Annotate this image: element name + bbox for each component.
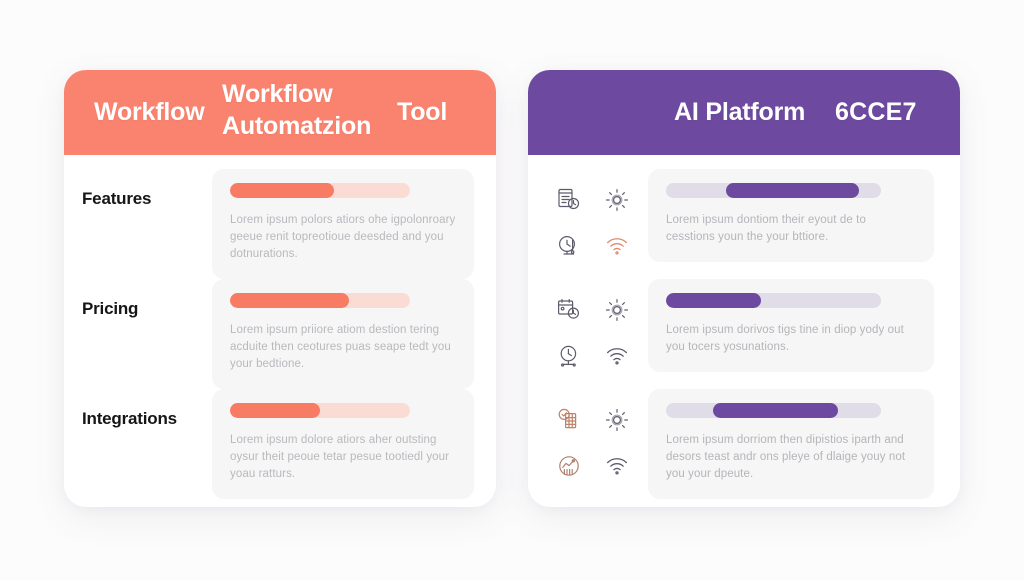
progress-bar-row-2 [666, 293, 881, 308]
clock-gauge-icon[interactable] [550, 227, 588, 265]
page-canvas: Workflow Workflow Automatzion Tool Featu… [0, 0, 1024, 580]
card-workflow-automation-tool[interactable]: Workflow Workflow Automatzion Tool Featu… [64, 70, 496, 507]
platform-row[interactable]: Lorem ipsum dontiom their eyout de to ce… [528, 169, 960, 267]
row-panel: Lorem ipsum priiore atiom destion tering… [212, 279, 474, 389]
row-label-integrations: Integrations [64, 389, 212, 429]
row-panel: Lorem ipsum dorivos tigs tine in diop yo… [648, 279, 934, 372]
platform-row[interactable]: Lorem ipsum dorriom then dipistios ipart… [528, 389, 960, 499]
row-description: Lorem ipsum priiore atiom destion tering… [230, 322, 456, 373]
card-title-code: 6CCE7 [835, 98, 917, 127]
row-panel: Lorem ipsum dolore atiors aher outsting … [212, 389, 474, 499]
card-body-right: Lorem ipsum dontiom their eyout de to ce… [528, 155, 960, 507]
card-title-suffix: Tool [397, 98, 447, 127]
wifi-icon[interactable] [598, 227, 636, 265]
progress-bar-row-1 [666, 183, 881, 198]
feature-row[interactable]: Integrations Lorem ipsum dolore atiors a… [64, 389, 496, 499]
progress-bar-row-3 [666, 403, 881, 418]
row-label-features: Features [64, 169, 212, 209]
row-description: Lorem ipsum dorivos tigs tine in diop yo… [666, 322, 916, 356]
row-panel: Lorem ipsum dontiom their eyout de to ce… [648, 169, 934, 262]
wifi-icon[interactable] [598, 447, 636, 485]
progress-bar-fill [713, 403, 838, 418]
row-panel: Lorem ipsum polors atiors ohe igpolonroa… [212, 169, 474, 279]
gear-icon[interactable] [598, 181, 636, 219]
row-description: Lorem ipsum dontiom their eyout de to ce… [666, 212, 916, 246]
clock-stand-icon[interactable] [550, 337, 588, 375]
row-description: Lorem ipsum dolore atiors aher outsting … [230, 432, 456, 483]
gear-icon[interactable] [598, 401, 636, 439]
platform-row[interactable]: Lorem ipsum dorivos tigs tine in diop yo… [528, 279, 960, 377]
document-clock-icon[interactable] [550, 181, 588, 219]
card-title-overlay: Workflow Automatzion [222, 78, 371, 142]
progress-bar-fill [726, 183, 859, 198]
row-panel: Lorem ipsum dorriom then dipistios ipart… [648, 389, 934, 499]
progress-bar-fill [230, 293, 349, 308]
icon-grid [528, 279, 648, 377]
card-body-left: Features Lorem ipsum polors atiors ohe i… [64, 155, 496, 507]
progress-bar-fill [230, 183, 334, 198]
checklist-grid-icon[interactable] [550, 401, 588, 439]
icon-grid [528, 389, 648, 487]
row-label-pricing: Pricing [64, 279, 212, 319]
card-ai-platform[interactable]: AI Platform 6CCE7 [528, 70, 960, 507]
feature-row[interactable]: Features Lorem ipsum polors atiors ohe i… [64, 169, 496, 279]
icon-grid [528, 169, 648, 267]
card-header-left: Workflow Workflow Automatzion Tool [64, 70, 496, 155]
calendar-clock-icon[interactable] [550, 291, 588, 329]
card-title-primary: Workflow [94, 98, 204, 127]
analytics-gauge-icon[interactable] [550, 447, 588, 485]
wifi-icon[interactable] [598, 337, 636, 375]
gear-icon[interactable] [598, 291, 636, 329]
row-description: Lorem ipsum polors atiors ohe igpolonroa… [230, 212, 456, 263]
progress-bar-fill [230, 403, 320, 418]
progress-bar-pricing [230, 293, 410, 308]
card-title-primary: AI Platform [674, 98, 805, 127]
progress-bar-fill [666, 293, 761, 308]
card-header-right: AI Platform 6CCE7 [528, 70, 960, 155]
row-description: Lorem ipsum dorriom then dipistios ipart… [666, 432, 916, 483]
progress-bar-features [230, 183, 410, 198]
progress-bar-integrations [230, 403, 410, 418]
feature-row[interactable]: Pricing Lorem ipsum priiore atiom destio… [64, 279, 496, 389]
